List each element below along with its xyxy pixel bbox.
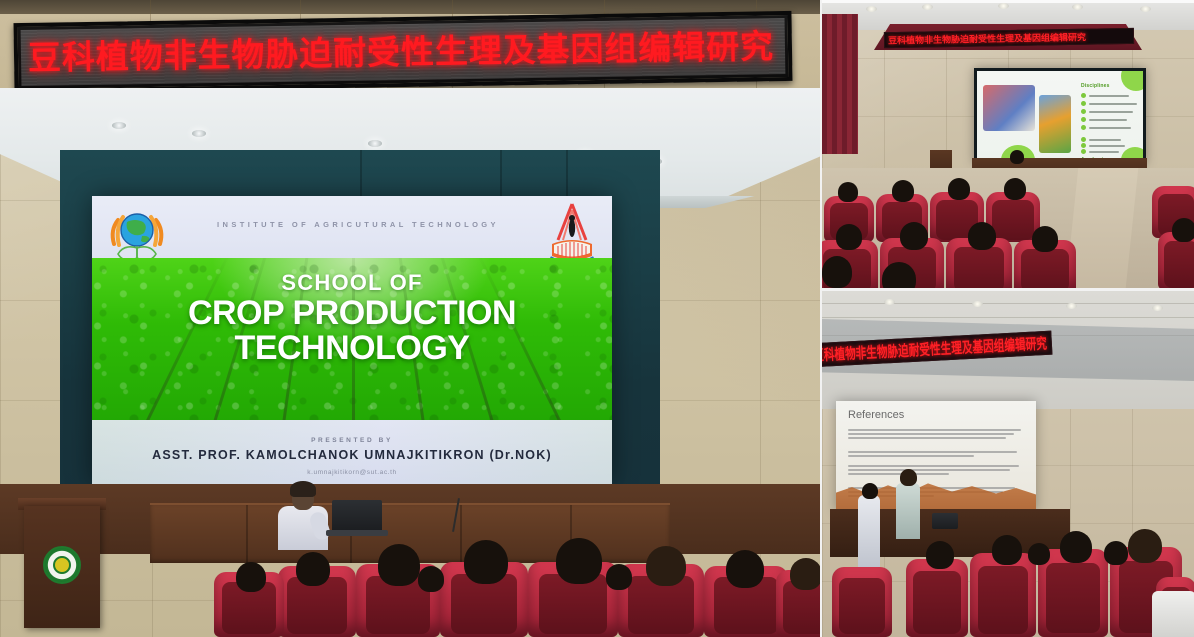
- theater-seat: [970, 553, 1036, 637]
- panel-divider-horizontal: [820, 288, 1194, 291]
- downlight-icon: [884, 299, 895, 305]
- downlight-icon: [1066, 303, 1077, 309]
- audience-head: [418, 566, 444, 592]
- auditorium-aisle: [1066, 168, 1139, 288]
- audience-head: [464, 540, 508, 584]
- bullet-dot: [1081, 137, 1086, 142]
- audience-head: [606, 564, 632, 590]
- downlight-icon: [1152, 305, 1163, 311]
- audience-head: [1004, 178, 1026, 200]
- audience-head: [1060, 531, 1092, 563]
- downlight-icon: [368, 140, 382, 147]
- bullet-line: [1089, 151, 1119, 153]
- led-banner-small-text: 豆科植物非生物胁迫耐受性生理及基因组编辑研究: [888, 30, 1086, 46]
- bullet-line: [1089, 95, 1129, 97]
- theater-seat: [832, 567, 892, 637]
- bullet-dot: [1081, 143, 1086, 148]
- speaker-head: [1010, 150, 1024, 164]
- audience-head: [1032, 226, 1058, 252]
- bullet-dot: [1081, 149, 1086, 154]
- slide-title-line-2: TECHNOLOGY: [92, 331, 612, 366]
- main-presentation-screen: INSTITUTE OF AGRICUTURAL TECHNOLOGY SCHO…: [92, 196, 612, 484]
- bullet-dot: [1081, 93, 1086, 98]
- downlight-icon: [866, 6, 877, 12]
- panel-divider-vertical: [820, 0, 822, 637]
- bullet-dot: [1081, 125, 1086, 130]
- downlight-icon: [922, 4, 933, 10]
- led-scrolling-banner: 豆科植物非生物胁迫耐受性生理及基因组编辑研究: [13, 11, 792, 93]
- audience-head: [822, 256, 852, 288]
- standing-person-head: [862, 483, 878, 499]
- audience-head: [900, 222, 928, 250]
- bullet-dot: [1081, 109, 1086, 114]
- downlight-icon: [112, 122, 126, 129]
- bullet-dot: [1081, 101, 1086, 106]
- university-seal-emblem: [43, 546, 81, 584]
- audience-head: [726, 550, 764, 588]
- slide-main-title: CROP PRODUCTION TECHNOLOGY: [92, 296, 612, 365]
- audience-head: [378, 544, 420, 586]
- projection-screen: Disciplines Academic year: [974, 68, 1146, 164]
- stage-curtain: [822, 14, 858, 154]
- downlight-icon: [972, 301, 983, 307]
- panel-divider-top: [820, 0, 1194, 3]
- audience-head: [926, 541, 954, 569]
- slide-decor-blob: [1121, 71, 1143, 91]
- references-title: References: [848, 409, 904, 421]
- audience-head: [1104, 541, 1128, 565]
- slide-title-line-1: CROP PRODUCTION: [92, 296, 612, 331]
- bullet-dot: [1081, 117, 1086, 122]
- bullet-line: [1089, 111, 1133, 113]
- slide-heading-disciplines: Disciplines: [1081, 83, 1110, 89]
- bullet-line: [1089, 145, 1125, 147]
- slide-photo-left: [983, 85, 1035, 131]
- audience-head: [236, 562, 266, 592]
- audience-head: [556, 538, 602, 584]
- reference-entry: [848, 465, 1028, 477]
- slide-school-of-label: SCHOOL OF: [92, 270, 612, 296]
- audience-head: [790, 558, 820, 590]
- audience-head: [992, 535, 1022, 565]
- audience-head: [892, 180, 914, 202]
- audience-head: [1128, 529, 1162, 563]
- downlight-icon: [192, 130, 206, 137]
- standing-person-head: [900, 469, 917, 486]
- bullet-line: [1089, 103, 1137, 105]
- bullet-line: [1089, 119, 1127, 121]
- bullet-line: [1089, 127, 1131, 129]
- audience-head: [838, 182, 858, 202]
- audience-head: [948, 178, 970, 200]
- audience-head: [882, 262, 916, 288]
- theater-seat: [906, 559, 968, 637]
- laptop-base: [326, 530, 388, 536]
- reference-entry: [848, 451, 1028, 459]
- audience-head: [1028, 543, 1050, 565]
- laptop-on-desk: [332, 500, 382, 532]
- audience-head: [1172, 218, 1194, 242]
- slide-presenter-name: ASST. PROF. KAMOLCHANOK UMNAJKITIKRON (D…: [92, 448, 612, 462]
- slide-presenter-email: k.umnajkitikorn@sut.ac.th: [92, 469, 612, 476]
- screenshot-root: 豆科植物非生物胁迫耐受性生理及基因组编辑研究: [0, 0, 1194, 637]
- standing-person-right: [896, 483, 920, 539]
- references-slide-photo: 豆科植物非生物胁迫耐受性生理及基因组编辑研究 References: [822, 291, 1194, 637]
- main-lecture-hall-photo: 豆科植物非生物胁迫耐受性生理及基因组编辑研究: [0, 0, 820, 637]
- audience-head: [646, 546, 686, 586]
- downlight-icon: [1140, 6, 1151, 12]
- bullet-line: [1089, 139, 1121, 141]
- slide-institute-line: INSTITUTE OF AGRICUTURAL TECHNOLOGY: [188, 220, 528, 229]
- audience-head: [296, 552, 330, 586]
- downlight-icon: [1072, 4, 1083, 10]
- slide-presented-by-label: PRESENTED BY: [92, 437, 612, 444]
- lectern-podium: [24, 506, 100, 628]
- reference-entry: [848, 429, 1028, 441]
- speaker-hair: [290, 481, 316, 497]
- projected-slide: Disciplines Academic year: [977, 71, 1143, 161]
- auditorium-wide-photo: 豆科植物非生物胁迫耐受性生理及基因组编辑研究 Disciplines: [822, 0, 1194, 288]
- slide-photo-center: [1039, 95, 1071, 153]
- audience-person: [1152, 591, 1194, 637]
- audience-head: [836, 224, 862, 250]
- laptop-on-desk: [932, 513, 958, 529]
- audience-head: [968, 222, 996, 250]
- downlight-icon: [998, 3, 1009, 9]
